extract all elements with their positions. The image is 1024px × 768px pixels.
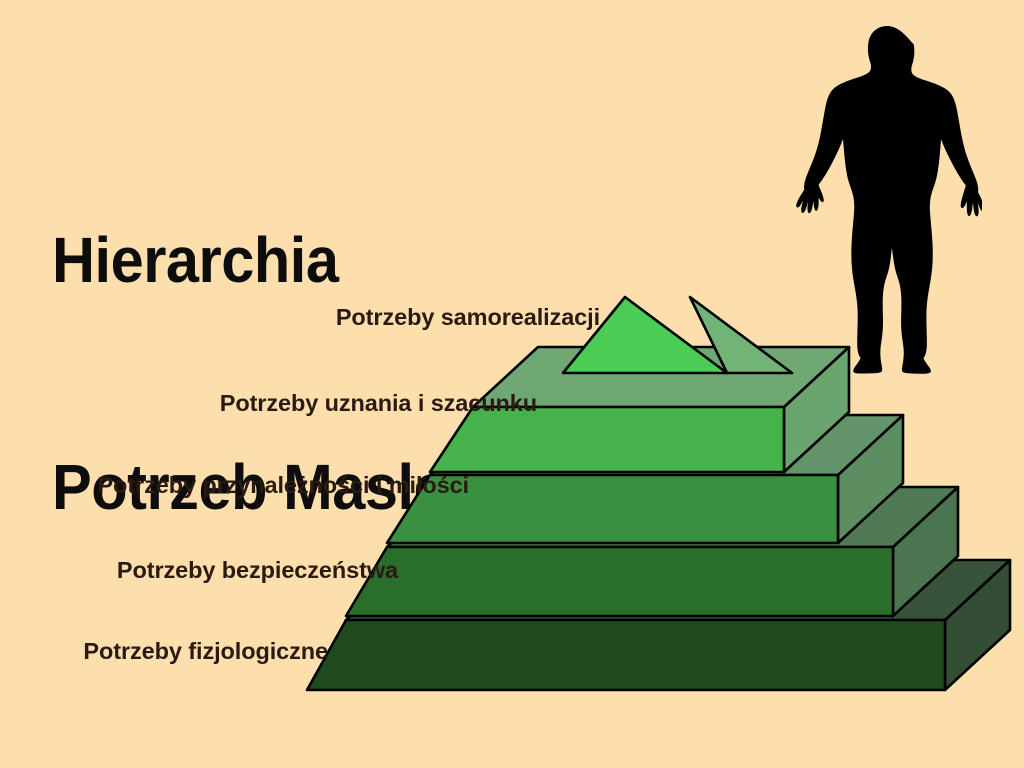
tier-2-front-face: [430, 407, 784, 472]
tier-label-esteem: Potrzeby uznania i szacunku: [0, 392, 537, 416]
tier-label-self-actualization: Potrzeby samorealizacji: [0, 306, 600, 330]
tier-5-front-face: [307, 620, 945, 690]
tier-4-front-face: [346, 547, 893, 616]
maslow-pyramid-poster: Hierarchia Potrzeb Maslowa: [0, 0, 1024, 768]
tier-label-physiological: Potrzeby fizjologiczne: [0, 640, 328, 664]
tier-label-safety: Potrzeby bezpieczeństwa: [0, 559, 398, 583]
tier-label-belonging: Potrzeby przynależności i miłości: [0, 474, 469, 498]
